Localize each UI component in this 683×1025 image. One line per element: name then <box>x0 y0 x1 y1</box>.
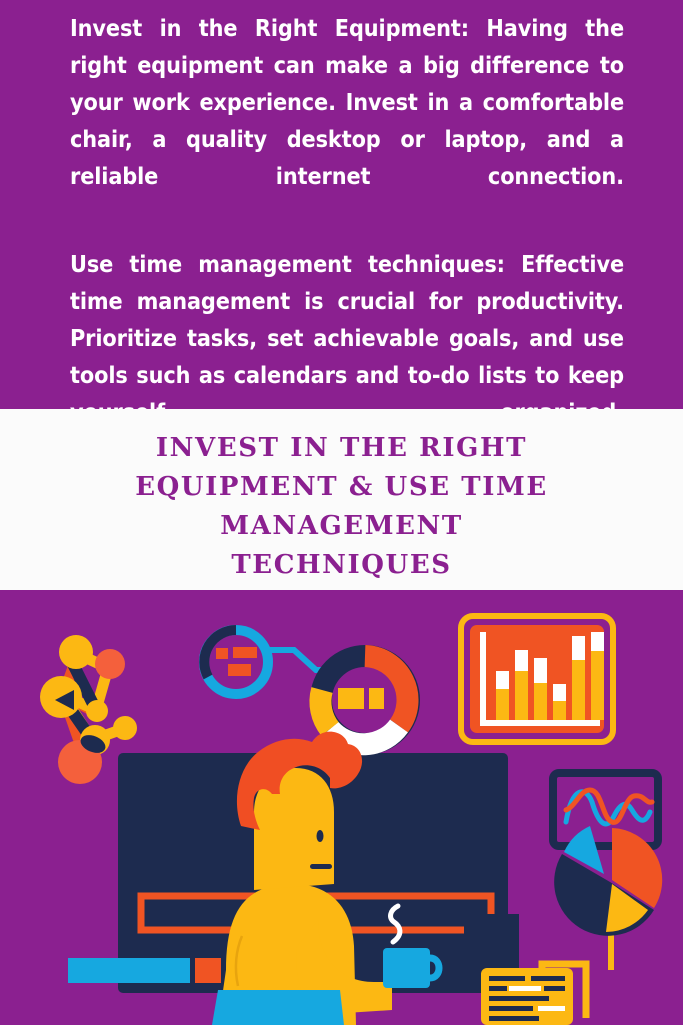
node-6 <box>113 716 137 740</box>
document-line-5 <box>544 986 565 991</box>
bar-2-remainder <box>515 650 528 671</box>
page-title: INVEST IN THE RIGHT EQUIPMENT & USE TIME… <box>110 429 573 585</box>
intro-text-panel: Invest in the Right Equipment: Having th… <box>0 0 683 409</box>
document-line-4-highlight <box>509 986 541 991</box>
bar-1-value <box>496 689 509 720</box>
data-block-3 <box>228 664 251 676</box>
bar-panel-shadow <box>464 914 519 969</box>
bar-4-remainder <box>553 684 566 701</box>
document-card <box>481 964 586 1025</box>
title-line-4: TECHNIQUES <box>110 546 573 585</box>
person-garment <box>212 990 344 1025</box>
main-donut-segment-yellow <box>320 690 330 729</box>
bar-4-value <box>553 701 566 720</box>
paragraph-list: Invest in the Right Equipment: Having th… <box>70 10 624 468</box>
infographic-page: Invest in the Right Equipment: Having th… <box>0 0 683 1025</box>
node-3 <box>86 700 108 722</box>
bar-5-value <box>572 660 585 720</box>
document-line-6 <box>489 996 549 1001</box>
document-line-7 <box>489 1006 533 1011</box>
bar-5-remainder <box>572 636 585 660</box>
pie-stem <box>608 930 614 970</box>
document-line-2 <box>531 976 565 981</box>
paragraph-invest-equipment: Invest in the Right Equipment: Having th… <box>70 10 624 232</box>
data-block-1 <box>216 648 228 659</box>
bar-3-remainder <box>534 658 547 683</box>
bar-6-remainder <box>591 632 604 651</box>
bar-2-value <box>515 671 528 720</box>
document-line-3 <box>489 986 507 991</box>
document-line-1 <box>489 976 525 981</box>
donut-center-block-2 <box>369 688 384 709</box>
hbar-1-divider <box>190 958 195 983</box>
bar-3-value <box>534 683 547 720</box>
hbar-1-orange <box>195 958 221 983</box>
title-line-2: EQUIPMENT & USE TIME <box>110 468 573 507</box>
document-line-8-highlight <box>538 1006 565 1011</box>
heading-panel: INVEST IN THE RIGHT EQUIPMENT & USE TIME… <box>0 409 683 590</box>
node-2 <box>95 649 125 679</box>
illustration-svg <box>0 590 683 1025</box>
bar-6-value <box>591 651 604 720</box>
title-line-1: INVEST IN THE RIGHT <box>110 429 573 468</box>
node-1 <box>59 635 93 669</box>
title-line-3: MANAGEMENT <box>110 507 573 546</box>
data-block-2 <box>233 647 257 658</box>
donut-center-block-1 <box>338 688 364 709</box>
illustration-panel <box>0 590 683 1025</box>
person-mouth <box>310 864 332 869</box>
document-line-9 <box>489 1016 539 1021</box>
person-eye <box>317 830 324 842</box>
mug-body <box>383 948 430 988</box>
hbar-1-cyan <box>68 958 190 983</box>
bar-1-remainder <box>496 671 509 689</box>
